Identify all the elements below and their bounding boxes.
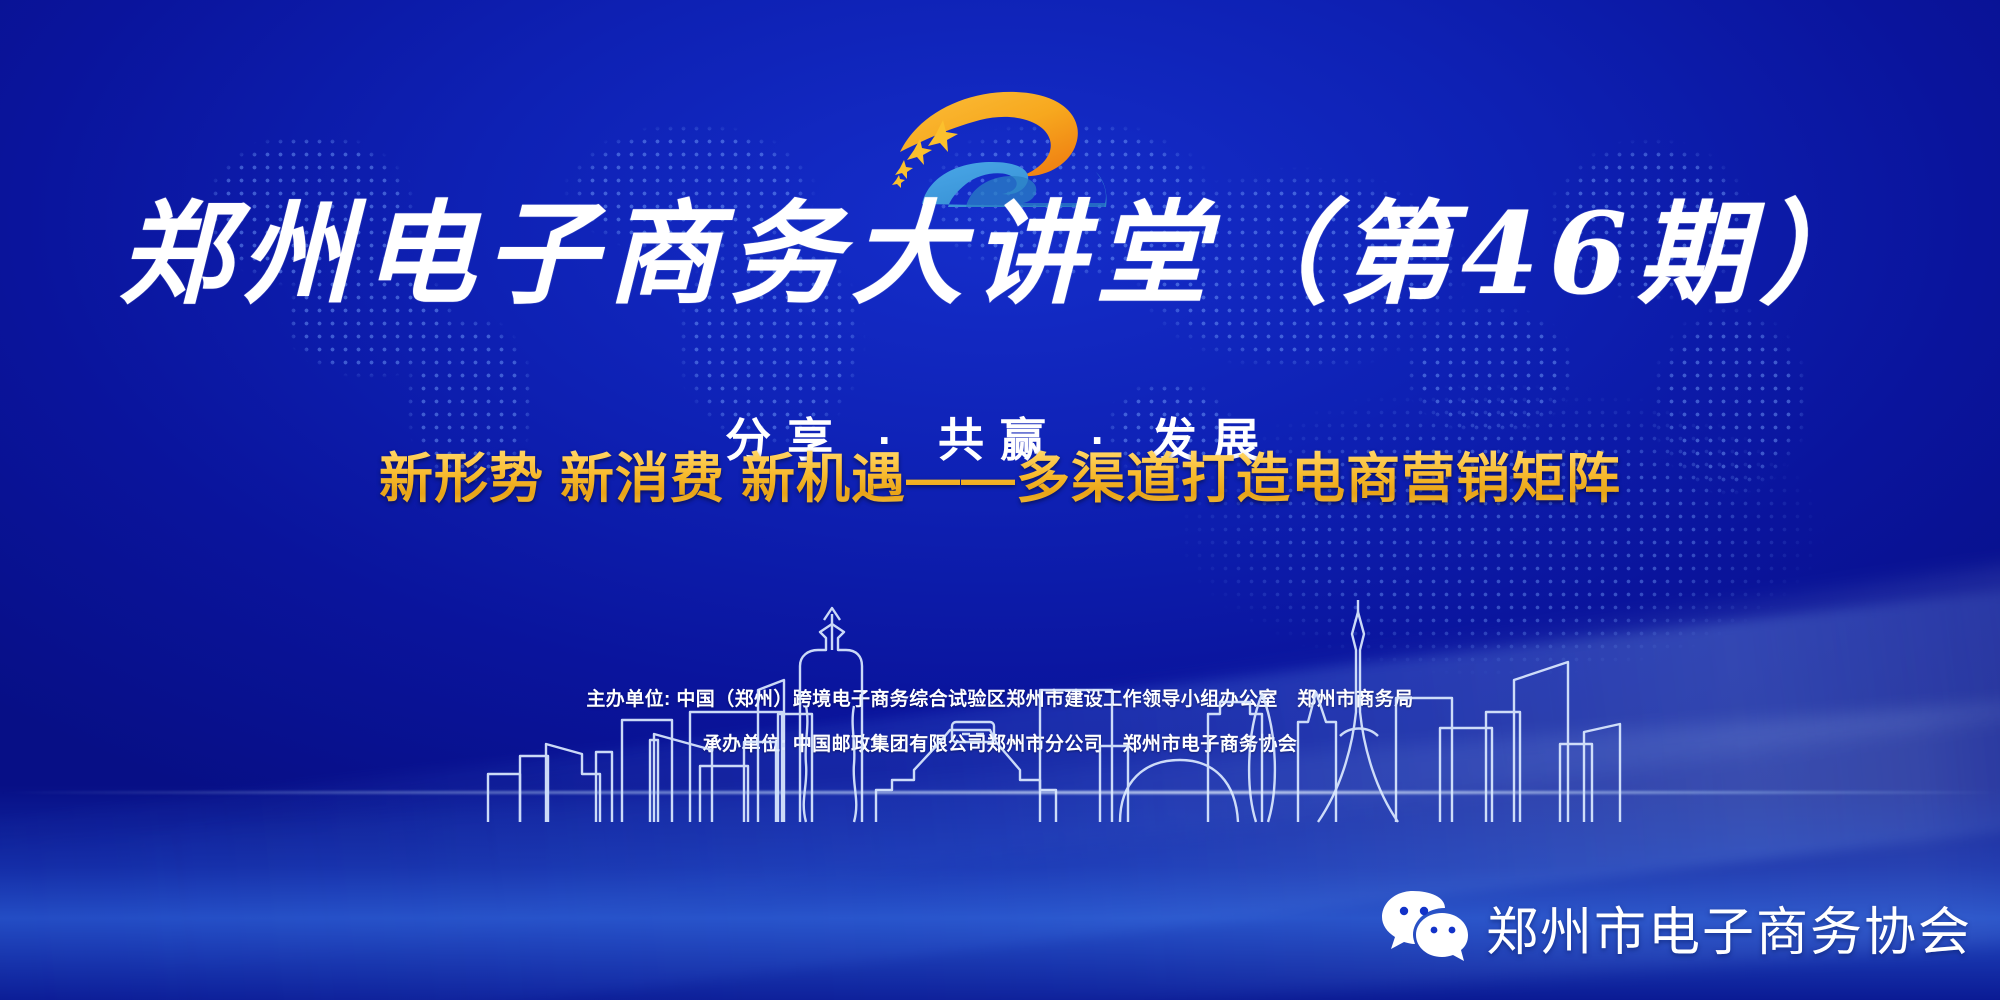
- building-10: [1584, 724, 1620, 822]
- headline: 新形势 新消费 新机遇——多渠道打造电商营销矩阵: [379, 428, 1621, 519]
- wechat-account-name: 郑州市电子商务协会: [1486, 890, 1972, 965]
- convention-roof-box: [952, 722, 994, 742]
- building-11: [520, 756, 548, 822]
- logo-star-tiny: [892, 175, 905, 188]
- poster-canvas: 郑州电子商务大讲堂（第46期） 分享 · 共赢 · 发展 新形势 新消费 新机遇…: [0, 0, 2000, 1000]
- building-7: [1396, 698, 1452, 822]
- wechat-icon: [1380, 887, 1468, 968]
- logo-star-small: [895, 160, 913, 179]
- zhengzhou-ecommerce-logo: [870, 72, 1130, 207]
- building-2: [654, 734, 712, 822]
- tower-left: [758, 680, 784, 822]
- page-title: 郑州电子商务大讲堂（第46期）: [0, 196, 2000, 315]
- building-1: [622, 720, 672, 822]
- wechat-account-badge[interactable]: 郑州市电子商务协会: [1380, 887, 1972, 968]
- convention-center: [876, 730, 1056, 822]
- city-skyline: [0, 594, 2000, 824]
- headline-container: 新形势 新消费 新机遇——多渠道打造电商营销矩阵: [0, 428, 2000, 519]
- horizon-line: [0, 791, 2000, 794]
